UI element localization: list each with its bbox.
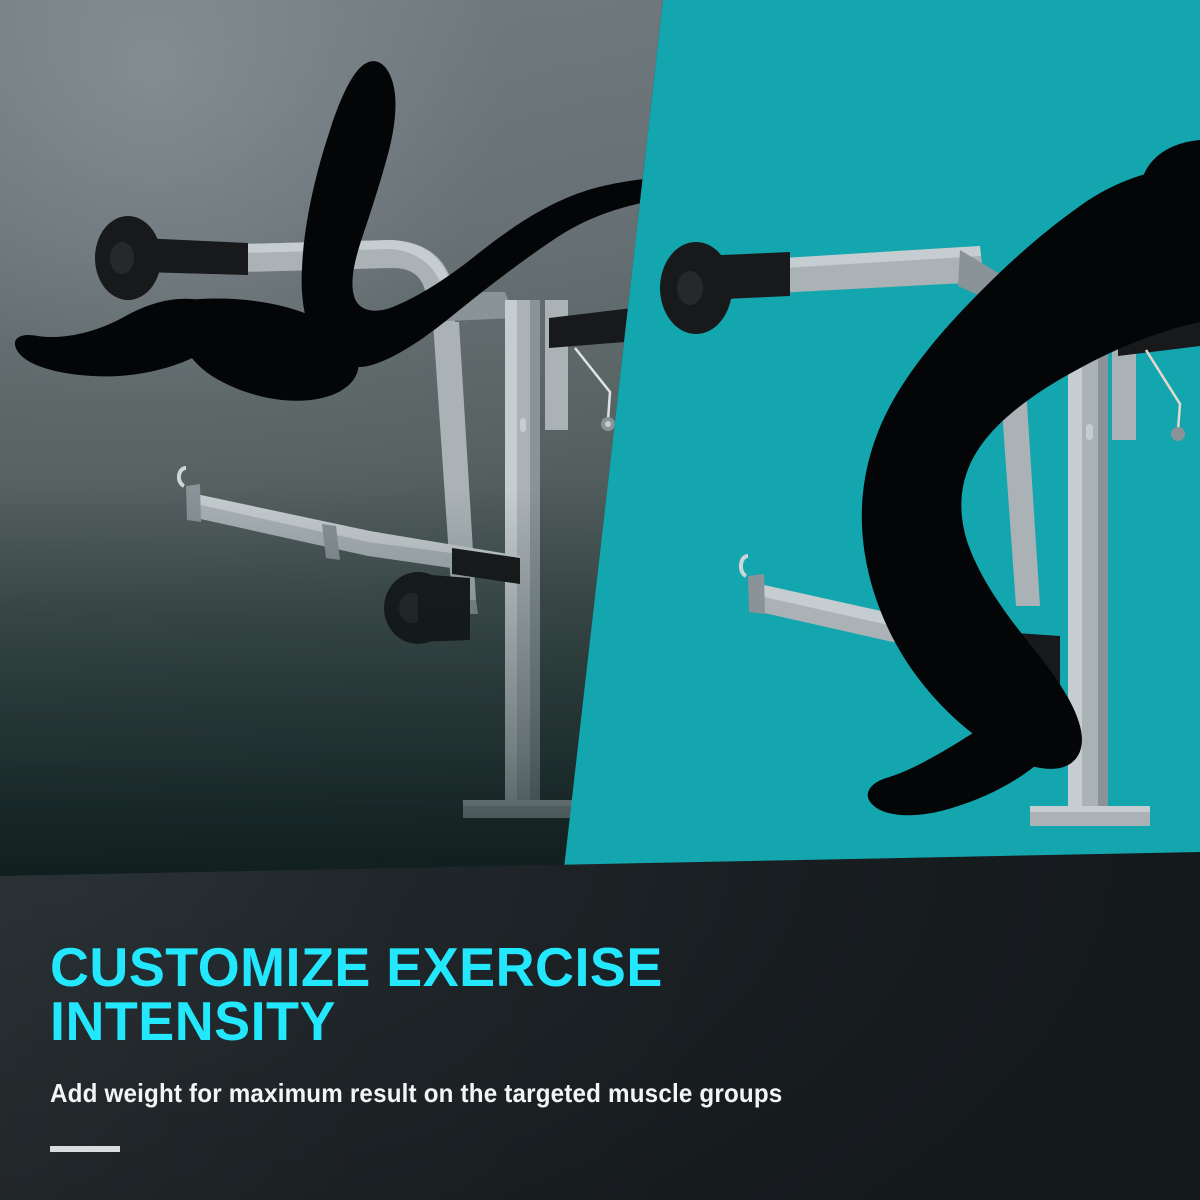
ankle-roller-upper-left [95, 216, 248, 300]
caption-panel: CUSTOMIZE EXERCISE INTENSITY Add weight … [0, 840, 1200, 1200]
athlete-silhouette-left [15, 61, 700, 401]
promo-poster: CUSTOMIZE EXERCISE INTENSITY Add weight … [0, 0, 1200, 1200]
accent-divider [50, 1146, 120, 1152]
caption-copy: CUSTOMIZE EXERCISE INTENSITY Add weight … [50, 940, 1100, 1152]
ankle-roller-lower-left [384, 572, 470, 644]
product-photo-band [0, 0, 1200, 886]
ankle-roller-upper-right [660, 242, 790, 334]
page-subtitle: Add weight for maximum result on the tar… [50, 1077, 1027, 1109]
weight-post-left [179, 468, 520, 584]
page-title: CUSTOMIZE EXERCISE INTENSITY [50, 940, 736, 1048]
